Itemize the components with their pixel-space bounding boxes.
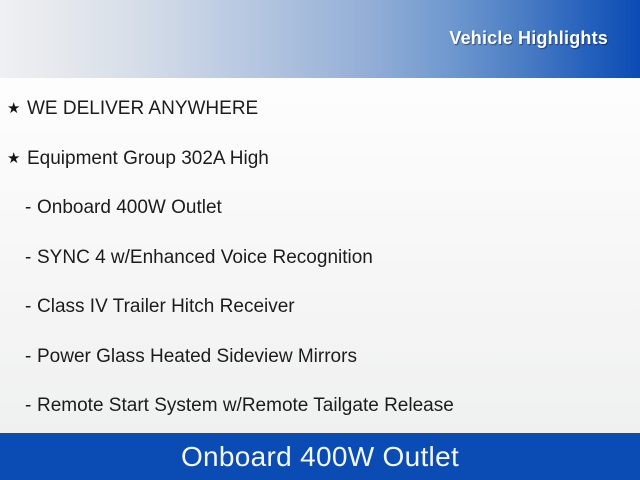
list-item-label: Power Glass Heated Sideview Mirrors bbox=[37, 347, 357, 366]
header-bar: Vehicle Highlights bbox=[0, 0, 640, 78]
dash-icon: - bbox=[25, 347, 37, 366]
list-item: -Class IV Trailer Hitch Receiver bbox=[0, 294, 640, 318]
star-icon: ★ bbox=[7, 151, 27, 166]
list-item-label: Remote Start System w/Remote Tailgate Re… bbox=[37, 396, 454, 415]
dash-icon: - bbox=[25, 297, 37, 316]
list-item: -Onboard 400W Outlet bbox=[0, 195, 640, 219]
list-item: -Remote Start System w/Remote Tailgate R… bbox=[0, 393, 640, 417]
dash-icon: - bbox=[25, 248, 37, 267]
dash-icon: - bbox=[25, 198, 37, 217]
vehicle-highlights-slide: Vehicle Highlights ★WE DELIVER ANYWHERE★… bbox=[0, 0, 640, 480]
list-item: -Power Glass Heated Sideview Mirrors bbox=[0, 344, 640, 368]
list-item-label: Onboard 400W Outlet bbox=[37, 198, 222, 217]
list-item: ★WE DELIVER ANYWHERE bbox=[0, 96, 640, 120]
list-item: ★Equipment Group 302A High bbox=[0, 146, 640, 170]
bottom-caption-text: Onboard 400W Outlet bbox=[181, 443, 459, 471]
page-title: Vehicle Highlights bbox=[449, 28, 608, 49]
dash-icon: - bbox=[25, 396, 37, 415]
list-item: -SYNC 4 w/Enhanced Voice Recognition bbox=[0, 245, 640, 269]
bottom-caption-banner: Onboard 400W Outlet bbox=[0, 433, 640, 480]
list-item-label: WE DELIVER ANYWHERE bbox=[27, 99, 258, 118]
list-item-label: Class IV Trailer Hitch Receiver bbox=[37, 297, 295, 316]
list-item-label: SYNC 4 w/Enhanced Voice Recognition bbox=[37, 248, 373, 267]
list-item-label: Equipment Group 302A High bbox=[27, 149, 269, 168]
highlights-list: ★WE DELIVER ANYWHERE★Equipment Group 302… bbox=[0, 78, 640, 432]
star-icon: ★ bbox=[7, 101, 27, 116]
